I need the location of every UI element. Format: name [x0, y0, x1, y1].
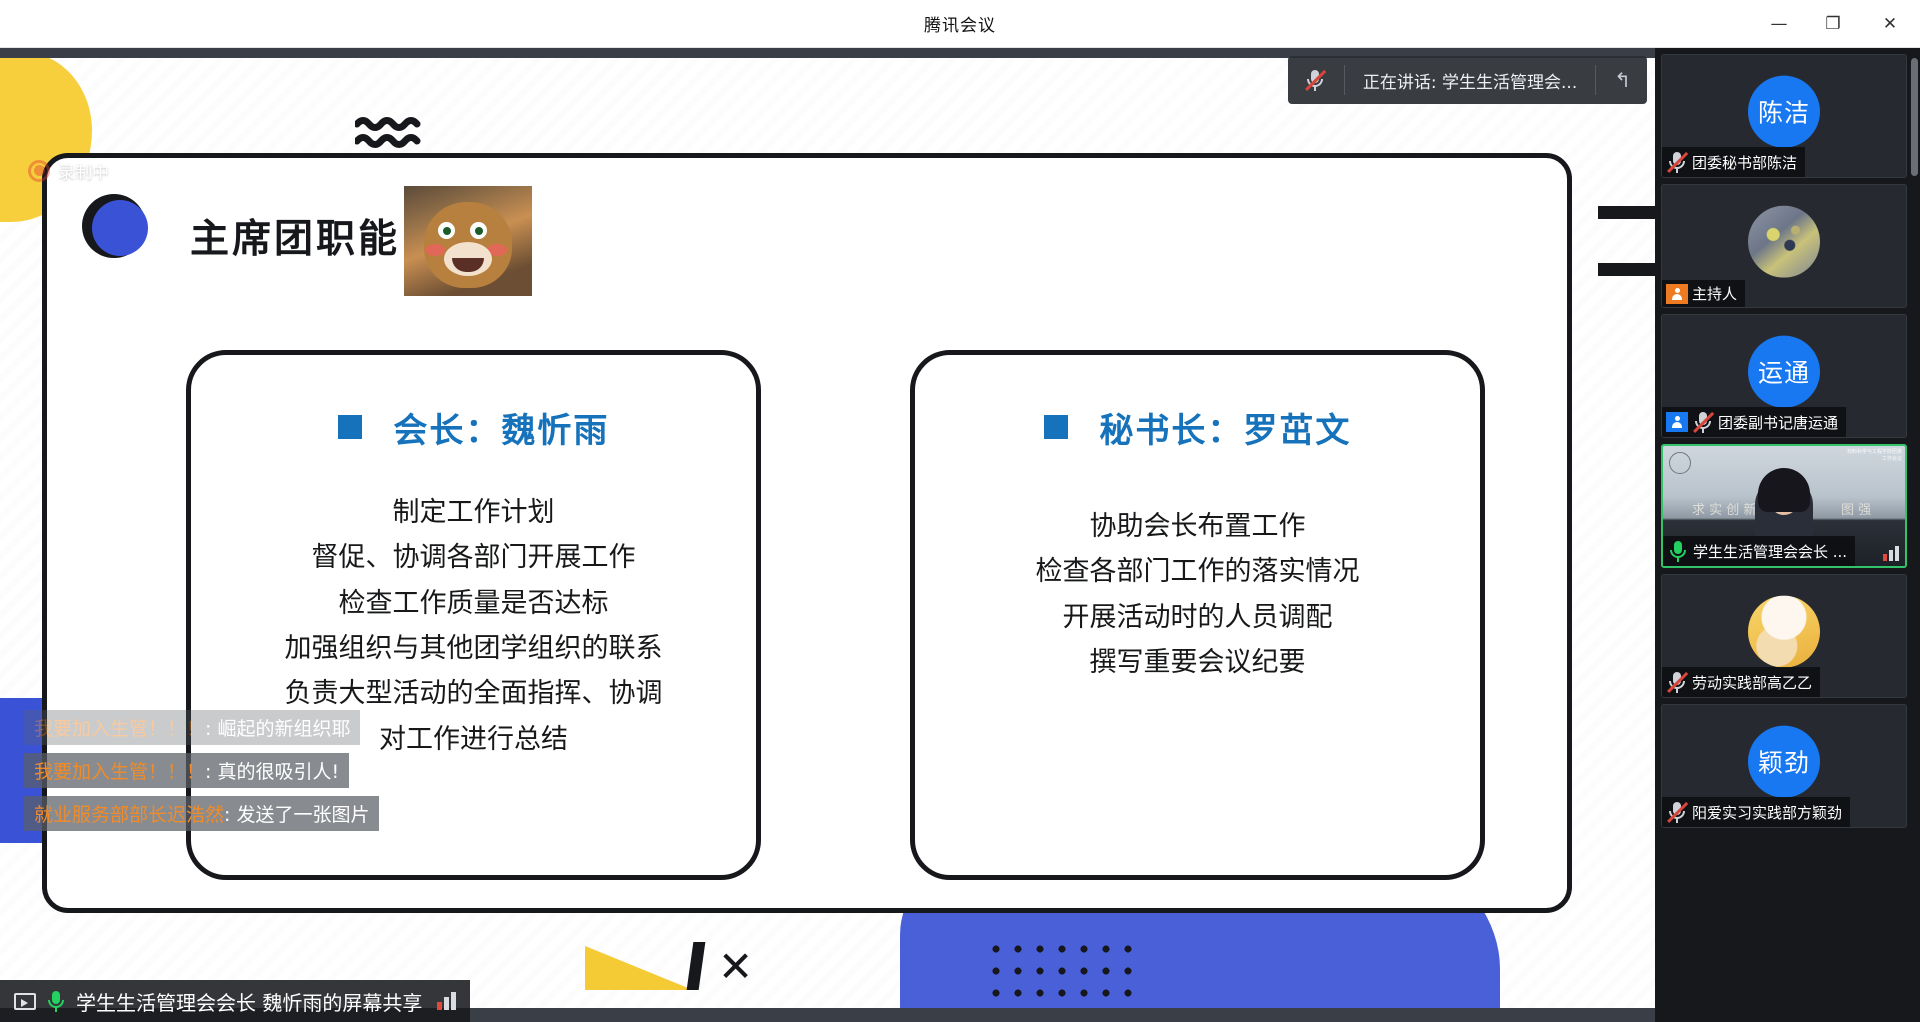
speaking-label-wrap: 正在讲话: 学生生活管理会...: [1353, 60, 1587, 100]
signal-bars-icon: [437, 992, 456, 1010]
avatar: [1748, 206, 1820, 278]
wavy-line-decoration: [355, 116, 433, 150]
screen-share-status-bar: 学生生活管理会会长 魏忻雨的屏幕共享: [0, 980, 470, 1022]
shared-screen-stage: ✕ 主席团职能 会长：魏忻雨 制定工作计划 督促、协调各部门开展工作 检查工作质…: [0, 48, 1655, 1022]
mic-off-icon: [1304, 68, 1326, 92]
role-card-heading: 秘书长：罗茁文: [915, 403, 1480, 452]
blue-circle-bullet: [82, 194, 146, 258]
participant-namebar: 团委副书记唐运通: [1662, 407, 1846, 437]
role-card-secretary-general: 秘书长：罗茁文 协助会长布置工作 检查各部门工作的落实情况 开展活动时的人员调配…: [910, 350, 1485, 880]
participant-name: 学生生活管理会会长 ...: [1693, 541, 1847, 562]
avatar: 陈洁: [1748, 76, 1820, 148]
role-line: 开展活动时的人员调配: [915, 595, 1480, 640]
participant-tile[interactable]: 劳动实践部高乙乙: [1661, 574, 1907, 698]
close-button[interactable]: ✕: [1860, 0, 1920, 48]
mic-on-icon: [1667, 539, 1689, 563]
speaking-label: 正在讲话: 学生生活管理会...: [1363, 68, 1577, 93]
mic-off-icon: [1666, 150, 1688, 174]
role-line: 撰写重要会议纪要: [915, 640, 1480, 685]
host-badge-icon: [1666, 412, 1688, 432]
role-heading-text: 秘书长：罗茁文: [1099, 411, 1351, 451]
square-bullet-icon: [338, 415, 362, 439]
speaker-mic-state: [1294, 60, 1336, 100]
screen-share-icon: [14, 993, 36, 1010]
participant-rail: 陈洁 团委秘书部陈洁 主持人 运通 团委副书记唐运通 材料科学与工程学: [1655, 48, 1920, 1022]
chat-separator: :: [205, 761, 217, 783]
maximize-button[interactable]: ❐: [1806, 0, 1860, 48]
square-bullet-icon: [1044, 415, 1068, 439]
record-dot-icon: [28, 160, 50, 182]
host-badge-icon: [1666, 284, 1688, 304]
participant-tile[interactable]: 主持人: [1661, 184, 1907, 308]
avatar: [1748, 596, 1820, 668]
participant-tile[interactable]: 运通 团委副书记唐运通: [1661, 314, 1907, 438]
arrow-collapse-icon[interactable]: ↰: [1604, 68, 1641, 92]
x-mark-decoration: ✕: [718, 946, 753, 988]
chat-text: 发送了一张图片: [236, 804, 369, 826]
recording-indicator: 录制中: [28, 158, 109, 183]
yellow-triangle-decoration: [585, 946, 693, 990]
avatar: 运通: [1748, 336, 1820, 408]
chat-sender: 就业服务部部长迟浩然: [34, 804, 224, 826]
presentation-slide: ✕ 主席团职能 会长：魏忻雨 制定工作计划 督促、协调各部门开展工作 检查工作质…: [0, 58, 1655, 1008]
chat-separator: :: [205, 718, 217, 740]
signal-bars-icon: [1883, 546, 1899, 561]
chat-message: 就业服务部部长迟浩然: 发送了一张图片: [24, 796, 379, 831]
participant-tile[interactable]: 陈洁 团委秘书部陈洁: [1661, 54, 1907, 178]
participant-name: 团委副书记唐运通: [1718, 412, 1838, 433]
slide-title: 主席团职能: [190, 208, 400, 264]
participant-namebar: 劳动实践部高乙乙: [1662, 667, 1820, 697]
avatar: 颖劲: [1748, 726, 1820, 798]
role-line: 督促、协调各部门开展工作: [191, 535, 756, 580]
speaking-status-bar: 正在讲话: 学生生活管理会... ↰: [1288, 56, 1647, 104]
bar-decoration-1: [1598, 206, 1655, 219]
university-logo-icon: [1669, 452, 1691, 474]
role-line: 协助会长布置工作: [915, 504, 1480, 549]
mic-on-icon: [45, 989, 67, 1013]
participant-namebar: 主持人: [1662, 280, 1745, 307]
chat-message: 我要加入生管！！！: 真的很吸引人!: [24, 753, 349, 788]
divider: [1344, 65, 1345, 95]
chat-text: 崛起的新组织耶: [217, 718, 350, 740]
role-line: 检查各部门工作的落实情况: [915, 549, 1480, 594]
window-controls: — ❐ ✕: [1752, 0, 1920, 48]
chat-sender: 我要加入生管！！！: [34, 718, 205, 740]
screen-share-label: 学生生活管理会会长 魏忻雨的屏幕共享: [76, 987, 422, 1016]
participant-tile[interactable]: 颖劲 阳爱实习实践部方颖劲: [1661, 704, 1907, 828]
camera-banner-text: 材料科学与工程学院团委工作会议: [1847, 449, 1902, 463]
bear-image: [404, 186, 532, 296]
chat-message: 我要加入生管！！！: 崛起的新组织耶: [24, 710, 360, 745]
wall-text-left: 求 实 创 新: [1692, 499, 1756, 518]
participant-namebar: 团委秘书部陈洁: [1662, 147, 1805, 177]
recording-label: 录制中: [58, 158, 109, 183]
participant-name: 团委秘书部陈洁: [1692, 152, 1797, 173]
mic-off-icon: [1666, 670, 1688, 694]
chat-text: 真的很吸引人!: [217, 761, 339, 783]
chat-sender: 我要加入生管！！！: [34, 761, 205, 783]
wall-text-right: 图 强: [1841, 499, 1871, 518]
participant-tile-active-speaker[interactable]: 材料科学与工程学院团委工作会议 求 实 创 新 图 强 学生生活管理会会长 ..…: [1661, 444, 1907, 568]
role-line: 加强组织与其他团学组织的联系: [191, 626, 756, 671]
chat-overlay: 我要加入生管！！！: 崛起的新组织耶 我要加入生管！！！: 真的很吸引人! 就业…: [24, 710, 379, 831]
mic-off-icon: [1666, 800, 1688, 824]
role-card-lines: 协助会长布置工作 检查各部门工作的落实情况 开展活动时的人员调配 撰写重要会议纪…: [915, 504, 1480, 685]
participant-name: 主持人: [1692, 283, 1737, 304]
minimize-button[interactable]: —: [1752, 0, 1806, 48]
chat-separator: :: [224, 804, 236, 826]
window-title-bar: 腾讯会议 — ❐ ✕: [0, 0, 1920, 48]
participant-name: 阳爱实习实践部方颖劲: [1692, 802, 1842, 823]
role-line: 制定工作计划: [191, 490, 756, 535]
bar-decoration-2: [1598, 263, 1655, 276]
app-title: 腾讯会议: [924, 11, 996, 36]
role-line: 检查工作质量是否达标: [191, 581, 756, 626]
participant-name: 劳动实践部高乙乙: [1692, 672, 1812, 693]
mic-off-icon: [1692, 410, 1714, 434]
role-card-heading: 会长：魏忻雨: [191, 403, 756, 452]
polka-dots-decoration: [985, 938, 1135, 1008]
participant-namebar: 阳爱实习实践部方颖劲: [1662, 797, 1850, 827]
divider: [1595, 65, 1596, 95]
participant-scrollbar[interactable]: [1911, 58, 1918, 176]
participant-namebar: 学生生活管理会会长 ...: [1663, 536, 1855, 566]
role-heading-text: 会长：魏忻雨: [393, 411, 609, 451]
